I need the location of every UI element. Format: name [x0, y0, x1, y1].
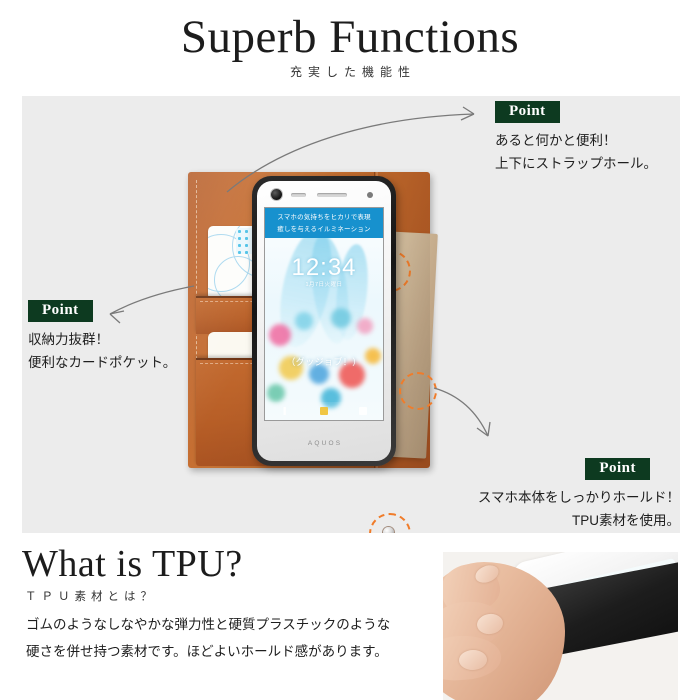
- product-feature-infographic: Superb Functions 充実した機能性: [0, 0, 700, 700]
- callout-tpu-hold: Point スマホ本体をしっかりホールド！ TPU素材を使用。: [442, 458, 680, 532]
- highlight-ring-bottom: [369, 513, 411, 533]
- point-badge: Point: [495, 101, 560, 123]
- callout-line-2: 上下にストラップホール。: [495, 152, 657, 175]
- phone-screen: スマホの気持ちをヒカリで表現 癒しを与えるイルミネーション 12:34 1月7日…: [264, 207, 384, 421]
- screen-banner: スマホの気持ちをヒカリで表現 癒しを与えるイルミネーション: [265, 208, 383, 238]
- camera-shortcut-icon[interactable]: [359, 407, 367, 415]
- proximity-sensor-icon: [367, 192, 373, 198]
- callout-text: あると何かと便利！ 上下にストラップホール。: [495, 129, 657, 175]
- callout-line-2: TPU素材を使用。: [442, 509, 680, 532]
- phone-body: スマホの気持ちをヒカリで表現 癒しを与えるイルミネーション 12:34 1月7日…: [257, 181, 391, 461]
- phone-illustration: スマホの気持ちをヒカリで表現 癒しを与えるイルミネーション 12:34 1月7日…: [252, 176, 396, 466]
- callout-text: スマホ本体をしっかりホールド！ TPU素材を使用。: [442, 486, 680, 532]
- front-camera-icon: [271, 189, 282, 200]
- tpu-body-line-1: ゴムのようなしなやかな弾力性と硬質プラスチックのような: [26, 611, 436, 638]
- callout-line-1: スマホ本体をしっかりホールド！: [442, 486, 680, 509]
- point-badge: Point: [585, 458, 650, 480]
- callout-card-pocket: Point 収納力抜群！ 便利なカードポケット。: [28, 300, 176, 374]
- tpu-body-line-2: 硬さを併せ持つ素材です。ほどよいホールド感があります。: [26, 638, 436, 665]
- tpu-title: What is TPU?: [22, 543, 243, 585]
- lockscreen-shortcut-bar: [265, 402, 383, 420]
- phone-brand-label: AQUOS: [257, 440, 391, 447]
- hand-holding-case-photo: [443, 552, 678, 700]
- tpu-subtitle: ＴＰＵ素材とは？: [25, 588, 157, 604]
- earpiece-slot-icon: [317, 193, 347, 197]
- callout-line-1: あると何かと便利！: [495, 129, 657, 152]
- sensor-slot-icon: [291, 193, 306, 197]
- banner-line-2: 癒しを与えるイルミネーション: [265, 224, 383, 236]
- header: Superb Functions 充実した機能性: [0, 0, 700, 92]
- lockscreen-clock: 12:34: [265, 254, 383, 282]
- callout-text: 収納力抜群！ 便利なカードポケット。: [28, 328, 176, 374]
- callout-line-1: 収納力抜群！: [28, 328, 176, 351]
- highlight-ring-phone-edge: [399, 372, 437, 410]
- hero-panel: スマホの気持ちをヒカリで表現 癒しを与えるイルミネーション 12:34 1月7日…: [22, 96, 680, 533]
- wallpaper-caption: （グッジョブ！）: [265, 355, 383, 368]
- phone-shortcut-icon[interactable]: [281, 407, 289, 415]
- tpu-body-text: ゴムのようなしなやかな弾力性と硬質プラスチックのような 硬さを併せ持つ素材です。…: [26, 611, 436, 665]
- callout-line-2: 便利なカードポケット。: [28, 351, 176, 374]
- phone-top-bezel: [257, 181, 391, 207]
- stitch-line-left: [196, 180, 197, 460]
- phone-bottom-bezel: AQUOS: [257, 423, 391, 457]
- banner-line-1: スマホの気持ちをヒカリで表現: [265, 212, 383, 224]
- lockscreen-date: 1月7日火曜日: [265, 280, 383, 288]
- page-title: Superb Functions: [0, 12, 700, 62]
- lock-icon[interactable]: [320, 407, 328, 415]
- callout-strap-hole: Point あると何かと便利！ 上下にストラップホール。: [495, 101, 657, 175]
- wallpaper: 12:34 1月7日火曜日 （グッジョブ！）: [265, 238, 383, 420]
- page-subtitle: 充実した機能性: [0, 63, 700, 80]
- point-badge: Point: [28, 300, 93, 322]
